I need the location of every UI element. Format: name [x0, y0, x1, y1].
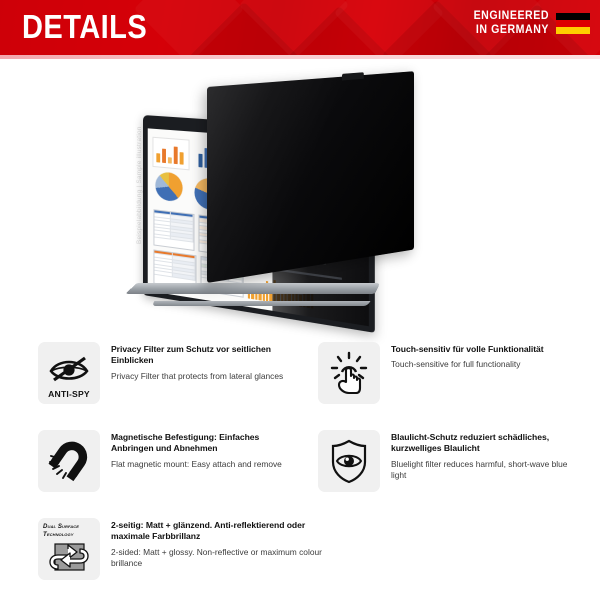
- feature-list: ANTI-SPY Privacy Filter zum Schutz vor s…: [0, 330, 600, 590]
- feature-title-en: Privacy Filter that protects from latera…: [111, 371, 293, 382]
- anti-spy-icon-tile: ANTI-SPY: [38, 342, 100, 404]
- anti-spy-eye-icon: [48, 363, 90, 383]
- feature-title-de: Magnetische Befestigung: Einfaches Anbri…: [111, 432, 300, 455]
- privacy-filter-sheet: [207, 71, 414, 283]
- german-flag-icon: [556, 13, 590, 34]
- engineered-badge: ENGINEERED IN GERMANY: [467, 9, 590, 37]
- filter-sheet-tab: [342, 72, 364, 80]
- feature-title-en: Flat magnetic mount: Easy attach and rem…: [111, 459, 300, 470]
- dual-surface-icon-tile: Dual Surface Technology: [38, 518, 100, 580]
- feature-title-en: Bluelight filter reduces harmful, short-…: [391, 459, 580, 481]
- hero-image: Beispielabbildung | Sample illustration: [0, 59, 600, 324]
- shield-eye-icon: [329, 438, 369, 484]
- feature-item-bluelight-filter: Blaulicht-Schutz reduziert schädliches, …: [318, 430, 580, 492]
- shield-icon-tile: [318, 430, 380, 492]
- feature-title-en: 2-sided: Matt + glossy. Non-reflective o…: [111, 547, 328, 569]
- feature-title-de: Blaulicht-Schutz reduziert schädliches, …: [391, 432, 580, 455]
- feature-item-dual-surface: Dual Surface Technology 2-seitig: Matt +…: [38, 518, 328, 580]
- magnet-icon-tile: [38, 430, 100, 492]
- page-header: DETAILS ENGINEERED IN GERMANY: [0, 0, 600, 55]
- page-title: DETAILS: [22, 7, 147, 47]
- touch-hand-icon: [329, 351, 369, 395]
- engineered-line-2: IN GERMANY: [474, 23, 549, 37]
- dual-surface-label: Dual Surface Technology: [43, 523, 79, 538]
- feature-title-de: Touch-sensitiv für volle Funktionalität: [391, 344, 544, 355]
- feature-item-magnetic-mount: Magnetische Befestigung: Einfaches Anbri…: [38, 430, 300, 492]
- anti-spy-label: ANTI-SPY: [38, 389, 100, 399]
- feature-title-de: 2-seitig: Matt + glänzend. Anti-reflekti…: [111, 520, 328, 543]
- dual-surface-icon: [44, 541, 94, 575]
- data-table: [153, 209, 194, 251]
- laptop-keyboard-base: [125, 283, 380, 294]
- laptop-base-lip: [152, 301, 371, 306]
- laptop-illustration: [135, 87, 485, 327]
- feature-item-privacy-filter: ANTI-SPY Privacy Filter zum Schutz vor s…: [38, 342, 293, 404]
- touch-icon-tile: [318, 342, 380, 404]
- feature-title-en: Touch-sensitive for full functionality: [391, 359, 544, 370]
- magnet-icon: [47, 439, 91, 483]
- engineered-line-1: ENGINEERED: [474, 9, 549, 23]
- pie-chart: [155, 171, 182, 202]
- feature-title-de: Privacy Filter zum Schutz vor seitlichen…: [111, 344, 293, 367]
- feature-item-touch-sensitive: Touch-sensitiv für volle Funktionalität …: [318, 342, 573, 404]
